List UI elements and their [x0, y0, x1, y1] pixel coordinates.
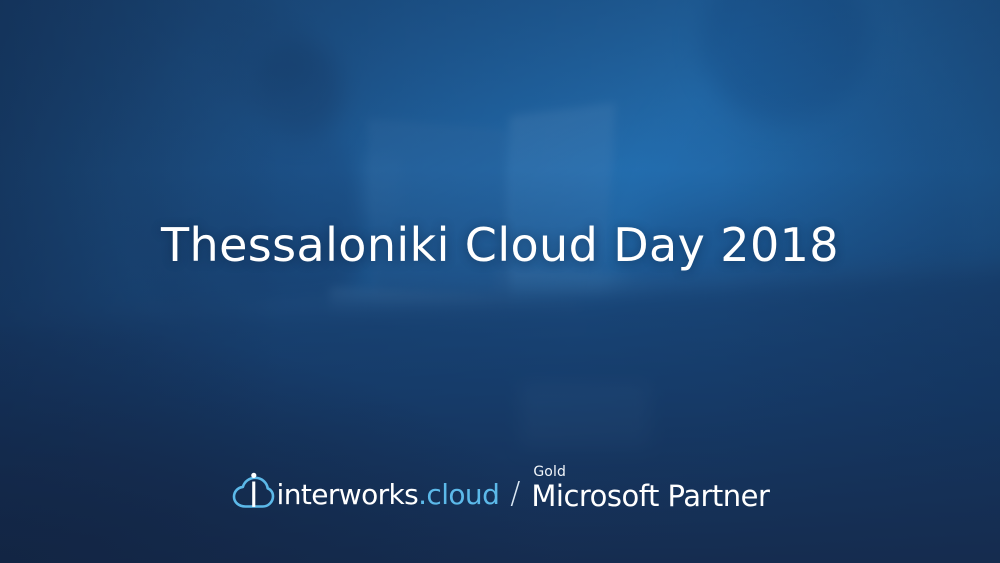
brand-name: interworks: [277, 478, 419, 511]
brand-wordmark: interworks.cloud: [277, 481, 500, 509]
partner-tier-label: Gold: [533, 465, 566, 479]
slide-content: Thessaloniki Cloud Day 2018 interworks.c…: [0, 0, 1000, 563]
logo-divider: /: [510, 479, 520, 509]
logo-lockup: interworks.cloud / Gold Microsoft Partne…: [0, 465, 1000, 511]
microsoft-partner-block: Gold Microsoft Partner: [531, 465, 769, 511]
interworks-cloud-icon: [231, 472, 275, 510]
slide-title: Thessaloniki Cloud Day 2018: [0, 222, 1000, 268]
presentation-slide: Thessaloniki Cloud Day 2018 interworks.c…: [0, 0, 1000, 563]
partner-name-label: Microsoft Partner: [531, 482, 769, 511]
brand-tld: .cloud: [418, 478, 499, 511]
